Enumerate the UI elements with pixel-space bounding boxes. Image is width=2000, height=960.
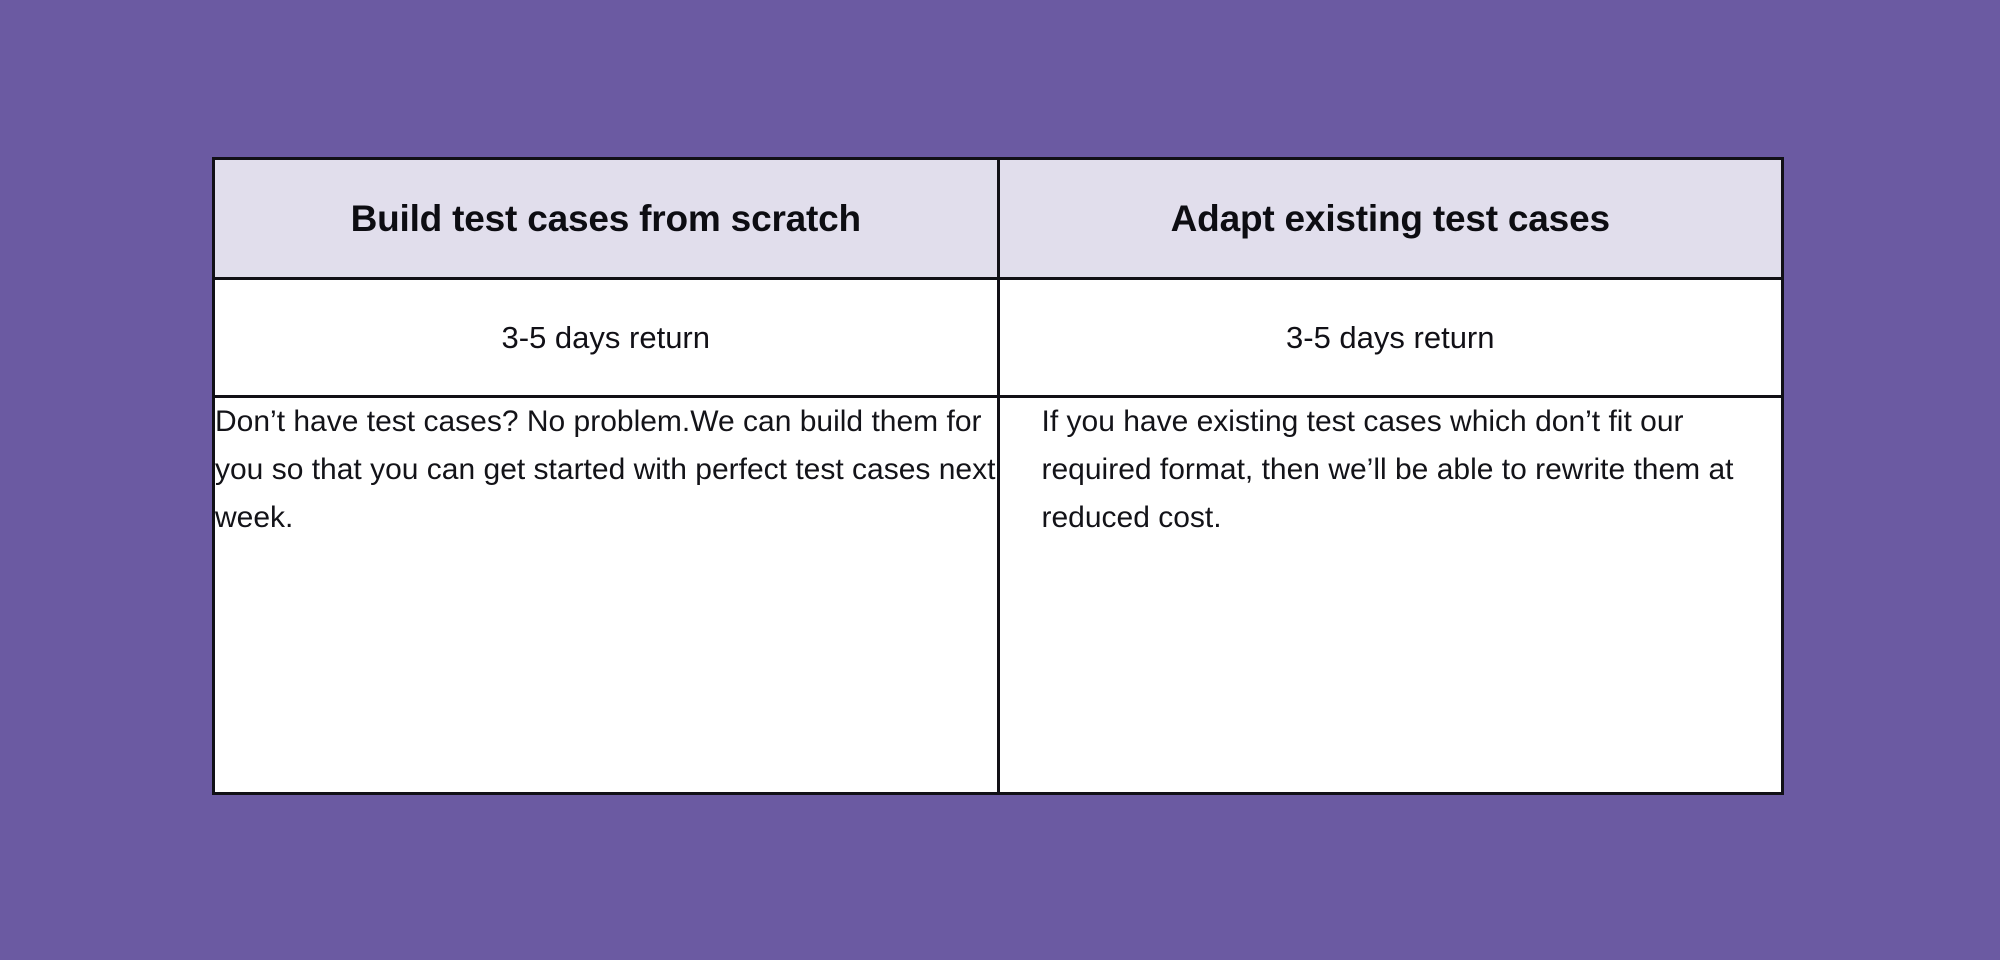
description-cell-adapt-existing: If you have existing test cases which do…	[998, 397, 1783, 794]
description-cell-build-from-scratch: Don’t have test cases? No problem.We can…	[214, 397, 999, 794]
turnaround-row: 3-5 days return 3-5 days return	[214, 279, 1783, 397]
turnaround-adapt-existing: 3-5 days return	[998, 279, 1783, 397]
column-header-build-from-scratch: Build test cases from scratch	[214, 159, 999, 279]
table-body: 3-5 days return 3-5 days return Don’t ha…	[214, 279, 1783, 794]
column-header-adapt-existing: Adapt existing test cases	[998, 159, 1783, 279]
table-header: Build test cases from scratch Adapt exis…	[214, 159, 1783, 279]
comparison-table: Build test cases from scratch Adapt exis…	[212, 157, 1784, 795]
description-row: Don’t have test cases? No problem.We can…	[214, 397, 1783, 794]
comparison-table-container: Build test cases from scratch Adapt exis…	[212, 157, 1784, 795]
table-header-row: Build test cases from scratch Adapt exis…	[214, 159, 1783, 279]
turnaround-build-from-scratch: 3-5 days return	[214, 279, 999, 397]
description-text-adapt-existing: If you have existing test cases which do…	[1042, 398, 1748, 542]
description-text-build-from-scratch: Don’t have test cases? No problem.We can…	[215, 398, 997, 542]
page-background: Build test cases from scratch Adapt exis…	[0, 0, 2000, 960]
